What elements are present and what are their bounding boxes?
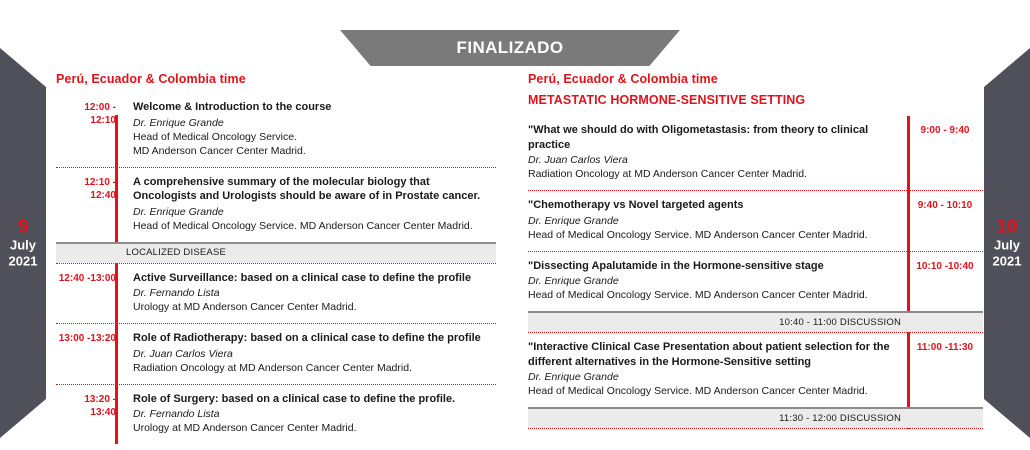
agenda-row-affiliation: Head of Medical Oncology Service. MD And…: [528, 228, 895, 242]
date-tab-right-year: 2021: [984, 254, 1030, 270]
agenda-row-body: "Chemotherapy vs Novel targeted agentsDr…: [528, 198, 907, 242]
discussion-band: 10:40 - 11:00 DISCUSSION: [528, 311, 983, 332]
agenda-row-speaker: Dr. Juan Carlos Viera: [133, 347, 496, 361]
agenda-row-speaker: Dr. Enrique Grande: [133, 205, 496, 219]
agenda-row-body: Active Surveillance: based on a clinical…: [123, 271, 496, 315]
agenda-row: 13:00 -13:20Role of Radiotherapy: based …: [56, 324, 496, 384]
agenda-row-time: 9:40 - 10:10: [907, 198, 983, 212]
date-tab-right: 10 July 2021: [984, 48, 1030, 438]
band-label: 10:40 - 11:00 DISCUSSION: [779, 317, 901, 329]
agenda-row-speaker: Dr. Enrique Grande: [133, 116, 496, 130]
date-tab-left-day: 9: [0, 217, 46, 238]
agenda-row-time: 11:00 -11:30: [907, 340, 983, 354]
agenda-row-title: "Dissecting Apalutamide in the Hormone-s…: [528, 259, 895, 274]
date-tab-left-year: 2021: [0, 254, 46, 270]
agenda-row-speaker: Dr. Enrique Grande: [528, 370, 895, 384]
agenda-row-time: 12:40 -13:00: [56, 271, 123, 285]
agenda-row-body: Role of Radiotherapy: based on a clinica…: [123, 331, 496, 375]
section-band: LOCALIZED DISEASE: [56, 242, 496, 263]
agenda-row-title: Welcome & Introduction to the course: [133, 100, 496, 115]
agenda-row-affiliation: MD Anderson Cancer Center Madrid.: [133, 144, 496, 158]
agenda-row: "Interactive Clinical Case Presentation …: [528, 333, 983, 407]
agenda-row-time: 12:00 - 12:10: [56, 100, 123, 127]
discussion-band: 11:30 - 12:00 DISCUSSION: [528, 407, 983, 428]
timezone-heading-left: Perú, Ecuador & Colombia time: [56, 72, 496, 87]
date-tab-right-month: July: [984, 238, 1030, 254]
date-tab-left: 9 July 2021: [0, 48, 46, 438]
band-label: LOCALIZED DISEASE: [126, 247, 226, 259]
agenda-row-title: "Interactive Clinical Case Presentation …: [528, 340, 895, 369]
agenda-row-title: "Chemotherapy vs Novel targeted agents: [528, 198, 895, 213]
agenda-row-body: "What we should do with Oligometastasis:…: [528, 123, 907, 181]
timezone-heading-right: Perú, Ecuador & Colombia time: [528, 72, 983, 87]
date-tab-left-inner: 9 July 2021: [0, 217, 46, 270]
agenda-row: 13:20 - 13:40Role of Surgery: based on a…: [56, 385, 496, 445]
agenda-row-speaker: Dr. Enrique Grande: [528, 274, 895, 288]
date-tab-right-day: 10: [984, 217, 1030, 238]
agenda-row-time: 10:10 -10:40: [907, 259, 983, 273]
agenda-row-affiliation: Radiation Oncology at MD Anderson Cancer…: [528, 167, 895, 181]
agenda-row-time: 13:20 - 13:40: [56, 392, 123, 419]
agenda-column-day-one: Perú, Ecuador & Colombia time 12:00 - 12…: [56, 72, 496, 444]
band-label: 11:30 - 12:00 DISCUSSION: [779, 413, 901, 425]
agenda-row-affiliation: Head of Medical Oncology Service. MD And…: [528, 288, 895, 302]
agenda-row-body: "Interactive Clinical Case Presentation …: [528, 340, 907, 398]
agenda-row-body: "Dissecting Apalutamide in the Hormone-s…: [528, 259, 907, 303]
section-heading-metastatic: METASTATIC HORMONE-SENSITIVE SETTING: [528, 93, 983, 108]
agenda-row-affiliation: Radiation Oncology at MD Anderson Cancer…: [133, 361, 496, 375]
agenda-row-title: "What we should do with Oligometastasis:…: [528, 123, 895, 152]
agenda-row-title: A comprehensive summary of the molecular…: [133, 175, 496, 204]
timeline-rule: [115, 115, 118, 444]
agenda-row-body: A comprehensive summary of the molecular…: [123, 175, 496, 233]
date-tab-left-month: July: [0, 238, 46, 254]
row-separator: [528, 428, 983, 429]
date-tab-right-inner: 10 July 2021: [984, 217, 1030, 270]
agenda-row-time: 12:10 - 12:40: [56, 175, 123, 202]
agenda-row-affiliation: Head of Medical Oncology Service.: [133, 130, 496, 144]
agenda-row-affiliation: Head of Medical Oncology Service. MD And…: [528, 384, 895, 398]
agenda-page: FINALIZADO 9 July 2021 10 July 2021 Perú…: [0, 0, 1030, 450]
agenda-row-affiliation: Head of Medical Oncology Service. MD And…: [133, 219, 496, 233]
agenda-row-affiliation: Urology at MD Anderson Cancer Center Mad…: [133, 421, 496, 435]
agenda-row: "Chemotherapy vs Novel targeted agentsDr…: [528, 191, 983, 251]
agenda-row-body: Welcome & Introduction to the courseDr. …: [123, 100, 496, 158]
agenda-row-speaker: Dr. Fernando Lista: [133, 407, 496, 421]
agenda-row: 12:00 - 12:10Welcome & Introduction to t…: [56, 93, 496, 167]
agenda-row-title: Active Surveillance: based on a clinical…: [133, 271, 496, 286]
agenda-row: 12:10 - 12:40A comprehensive summary of …: [56, 168, 496, 242]
agenda-row-title: Role of Surgery: based on a clinical cas…: [133, 392, 496, 407]
agenda-row: "What we should do with Oligometastasis:…: [528, 116, 983, 190]
status-banner: FINALIZADO: [340, 30, 680, 66]
agenda-list-right: "What we should do with Oligometastasis:…: [528, 116, 983, 429]
agenda-row: "Dissecting Apalutamide in the Hormone-s…: [528, 252, 983, 312]
agenda-row-speaker: Dr. Enrique Grande: [528, 214, 895, 228]
agenda-row-time: 9:00 - 9:40: [907, 123, 983, 137]
timeline-rule: [907, 116, 910, 429]
agenda-row-affiliation: Urology at MD Anderson Cancer Center Mad…: [133, 300, 496, 314]
agenda-row-body: Role of Surgery: based on a clinical cas…: [123, 392, 496, 436]
agenda-row-time: 13:00 -13:20: [56, 331, 123, 345]
agenda-row-speaker: Dr. Juan Carlos Viera: [528, 153, 895, 167]
agenda-row-title: Role of Radiotherapy: based on a clinica…: [133, 331, 496, 346]
agenda-list-left: 12:00 - 12:10Welcome & Introduction to t…: [56, 93, 496, 444]
agenda-row: 12:40 -13:00Active Surveillance: based o…: [56, 264, 496, 324]
agenda-row-speaker: Dr. Fernando Lista: [133, 286, 496, 300]
agenda-column-day-two: Perú, Ecuador & Colombia time METASTATIC…: [528, 72, 983, 429]
